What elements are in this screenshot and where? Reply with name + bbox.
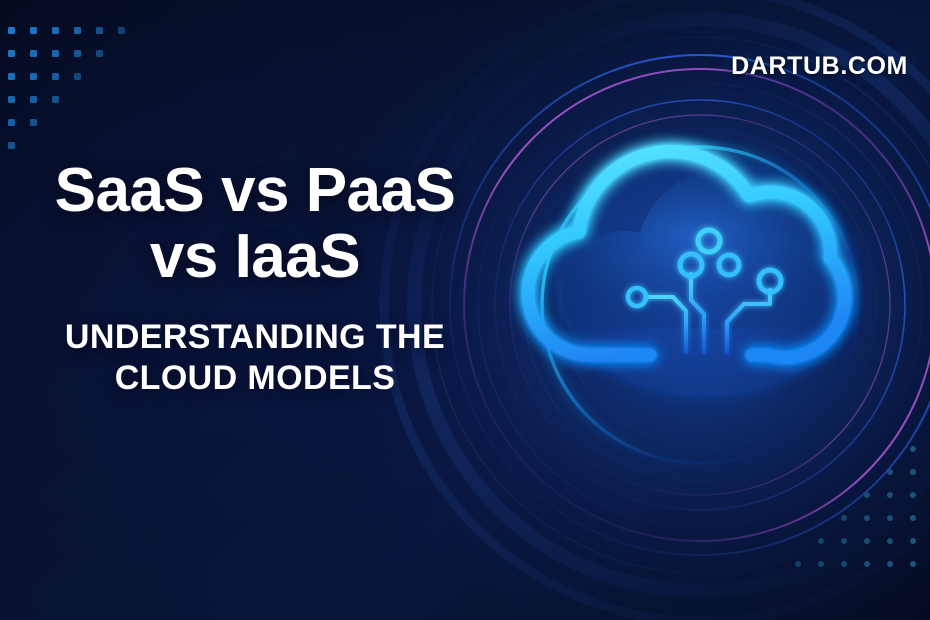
subtitle-line-2: CLOUD MODELS: [0, 358, 510, 399]
title-line-1: SaaS vs PaaS: [0, 158, 510, 224]
title-line-2: vs IaaS: [0, 224, 510, 290]
brand-watermark: DARTUB.COM: [731, 52, 908, 81]
headline-block: SaaS vs PaaS vs IaaS UNDERSTANDING THE C…: [0, 158, 510, 400]
banner-canvas: DARTUB.COM SaaS vs PaaS vs IaaS UNDERSTA…: [0, 0, 930, 620]
dot-grid-top-left: [8, 27, 140, 165]
page-title: SaaS vs PaaS vs IaaS: [0, 158, 510, 291]
dot-grid-bottom-right: [778, 446, 916, 584]
subtitle-line-1: UNDERSTANDING THE: [0, 317, 510, 358]
page-subtitle: UNDERSTANDING THE CLOUD MODELS: [0, 317, 510, 400]
